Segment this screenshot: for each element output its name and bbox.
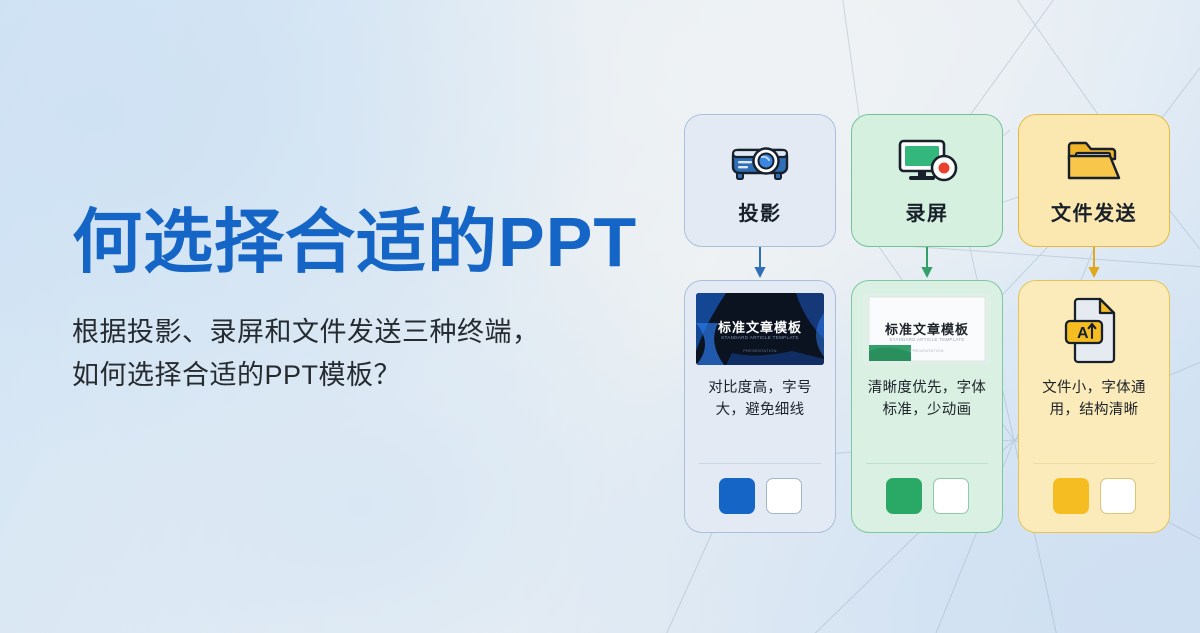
- thumbnail-subtitle: STANDARD ARTICLE TEMPLATE: [873, 337, 981, 342]
- top-card-label: 文件发送: [1051, 197, 1137, 226]
- monitor-record-icon: [896, 135, 958, 187]
- column-screen-recording: 录屏 标准文章模板 STANDARD ARTICLE TEMPLATE PRES…: [851, 114, 1003, 533]
- folder-icon: [1063, 135, 1125, 187]
- card-description: 对比度高，字号大，避免细线: [696, 377, 824, 421]
- swatch-primary[interactable]: [1053, 478, 1089, 514]
- swatch-neutral[interactable]: [1100, 478, 1136, 514]
- swatch-neutral[interactable]: [933, 478, 969, 514]
- connector-arrow-file-transfer: [1018, 247, 1170, 280]
- template-thumbnail-dark[interactable]: 标准文章模板 STANDARD ARTICLE TEMPLATE PRESENT…: [696, 293, 824, 365]
- card-divider: [866, 463, 988, 464]
- swatch-primary[interactable]: [719, 478, 755, 514]
- card-divider: [699, 463, 821, 464]
- swatch-primary[interactable]: [886, 478, 922, 514]
- page-title: 何选择合适的PPT: [72, 205, 672, 281]
- thumbnail-title: 标准文章模板: [696, 317, 824, 336]
- swatch-row: [886, 478, 969, 514]
- page-subtitle: 根据投影、录屏和文件发送三种终端， 如何选择合适的PPT模板？: [72, 311, 672, 398]
- column-projection: 投影 标准文章模板 STANDARD ARTICLE TEMPLATE: [684, 114, 836, 533]
- card-divider: [1033, 463, 1155, 464]
- top-card-label: 投影: [739, 197, 782, 226]
- top-card-label: 录屏: [906, 197, 949, 226]
- thumbnail-subtitle: STANDARD ARTICLE TEMPLATE: [706, 335, 814, 340]
- thumbnail-caption: PRESENTATION: [873, 348, 981, 352]
- bottom-card-screen-recording[interactable]: 标准文章模板 STANDARD ARTICLE TEMPLATE PRESENT…: [851, 280, 1003, 533]
- top-card-file-transfer[interactable]: 文件发送: [1018, 114, 1170, 247]
- hero-copy: 何选择合适的PPT 根据投影、录屏和文件发送三种终端， 如何选择合适的PPT模板…: [72, 205, 672, 398]
- connector-arrow-projection: [684, 247, 836, 280]
- top-card-screen-recording[interactable]: 录屏: [851, 114, 1003, 247]
- subtitle-line-1: 根据投影、录屏和文件发送三种终端，: [72, 311, 672, 355]
- template-thumbnail-light[interactable]: 标准文章模板 STANDARD ARTICLE TEMPLATE PRESENT…: [863, 293, 991, 365]
- card-description: 文件小，字体通用，结构清晰: [1030, 377, 1158, 421]
- column-file-transfer: 文件发送 A 文件小，字体通用，结构清晰: [1018, 114, 1170, 533]
- thumbnail-caption: PRESENTATION: [706, 348, 814, 352]
- projector-icon: [729, 135, 791, 187]
- thumbnail-title: 标准文章模板: [863, 319, 991, 338]
- file-font-icon[interactable]: A: [1030, 293, 1158, 365]
- subtitle-line-2: 如何选择合适的PPT模板？: [72, 354, 672, 398]
- comparison-card-grid: 投影 标准文章模板 STANDARD ARTICLE TEMPLATE: [684, 114, 1170, 533]
- swatch-neutral[interactable]: [766, 478, 802, 514]
- swatch-row: [1053, 478, 1136, 514]
- top-card-projection[interactable]: 投影: [684, 114, 836, 247]
- swatch-row: [719, 478, 802, 514]
- card-description: 清晰度优先，字体标准，少动画: [863, 377, 991, 421]
- bottom-card-file-transfer[interactable]: A 文件小，字体通用，结构清晰: [1018, 280, 1170, 533]
- svg-text:A: A: [1077, 325, 1089, 342]
- connector-arrow-screen-recording: [851, 247, 1003, 280]
- bottom-card-projection[interactable]: 标准文章模板 STANDARD ARTICLE TEMPLATE PRESENT…: [684, 280, 836, 533]
